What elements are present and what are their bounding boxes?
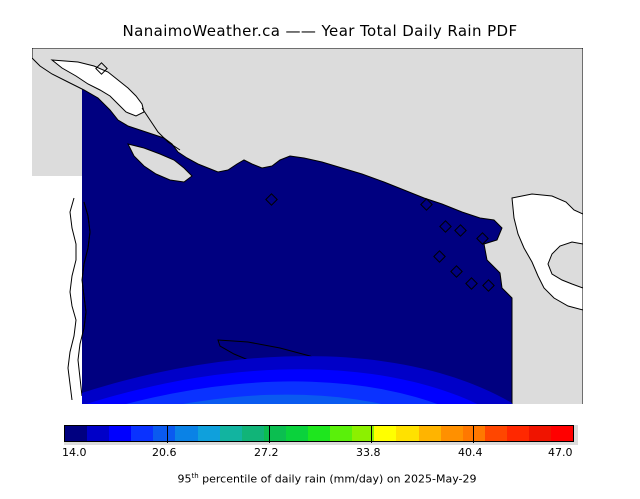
page-title: NanaimoWeather.ca —— Year Total Daily Ra… <box>0 22 640 40</box>
colorbar-tick <box>473 426 474 443</box>
caption-text: percentile of daily rain (mm/day) on 202… <box>199 473 477 486</box>
colorbar-swatch <box>441 426 463 441</box>
colorbar-tick-label: 33.8 <box>356 446 381 459</box>
caption-superscript: th <box>191 472 198 480</box>
colorbar-tick <box>269 426 270 443</box>
colorbar-swatch <box>87 426 109 441</box>
colorbar-swatch <box>242 426 264 441</box>
colorbar-tick-labels: 14.020.627.233.840.447.0 <box>0 446 640 460</box>
colorbar-swatch <box>419 426 441 441</box>
mainland-landmass <box>32 48 583 408</box>
coastline-svg <box>32 48 583 408</box>
map-plot-area <box>32 48 583 408</box>
colorbar-tick-label: 27.2 <box>254 446 279 459</box>
colorbar-swatch <box>175 426 197 441</box>
colorbar-swatch <box>308 426 330 441</box>
colorbar-swatch <box>551 426 573 441</box>
colorbar-swatch <box>330 426 352 441</box>
colorbar-swatch <box>198 426 220 441</box>
colorbar-caption: 95th percentile of daily rain (mm/day) o… <box>0 459 640 499</box>
colorbar-swatch <box>65 426 87 441</box>
caption-value: 95 <box>177 473 191 486</box>
west-water-strip <box>32 176 82 408</box>
colorbar-tick-label: 14.0 <box>62 446 87 459</box>
colorbar-tick <box>167 426 168 443</box>
weather-map-page: NanaimoWeather.ca —— Year Total Daily Ra… <box>0 0 640 480</box>
colorbar-tick-label: 47.0 <box>548 446 573 459</box>
colorbar-swatch <box>109 426 131 441</box>
colorbar-swatch <box>131 426 153 441</box>
colorbar-swatch <box>507 426 529 441</box>
south-white-strip <box>32 404 583 408</box>
colorbar-swatch <box>529 426 551 441</box>
colorbar-tick <box>371 426 372 443</box>
colorbar <box>64 425 574 442</box>
colorbar-swatch <box>286 426 308 441</box>
colorbar-swatch <box>264 426 286 441</box>
coastline-overlay <box>32 48 583 408</box>
colorbar-swatch <box>396 426 418 441</box>
colorbar-swatch <box>485 426 507 441</box>
colorbar-tick-label: 20.6 <box>152 446 177 459</box>
colorbar-swatch <box>220 426 242 441</box>
colorbar-tick-label: 40.4 <box>458 446 483 459</box>
colorbar-swatch <box>374 426 396 441</box>
colorbar-frame <box>64 425 578 445</box>
colorbar-swatch <box>153 426 175 441</box>
